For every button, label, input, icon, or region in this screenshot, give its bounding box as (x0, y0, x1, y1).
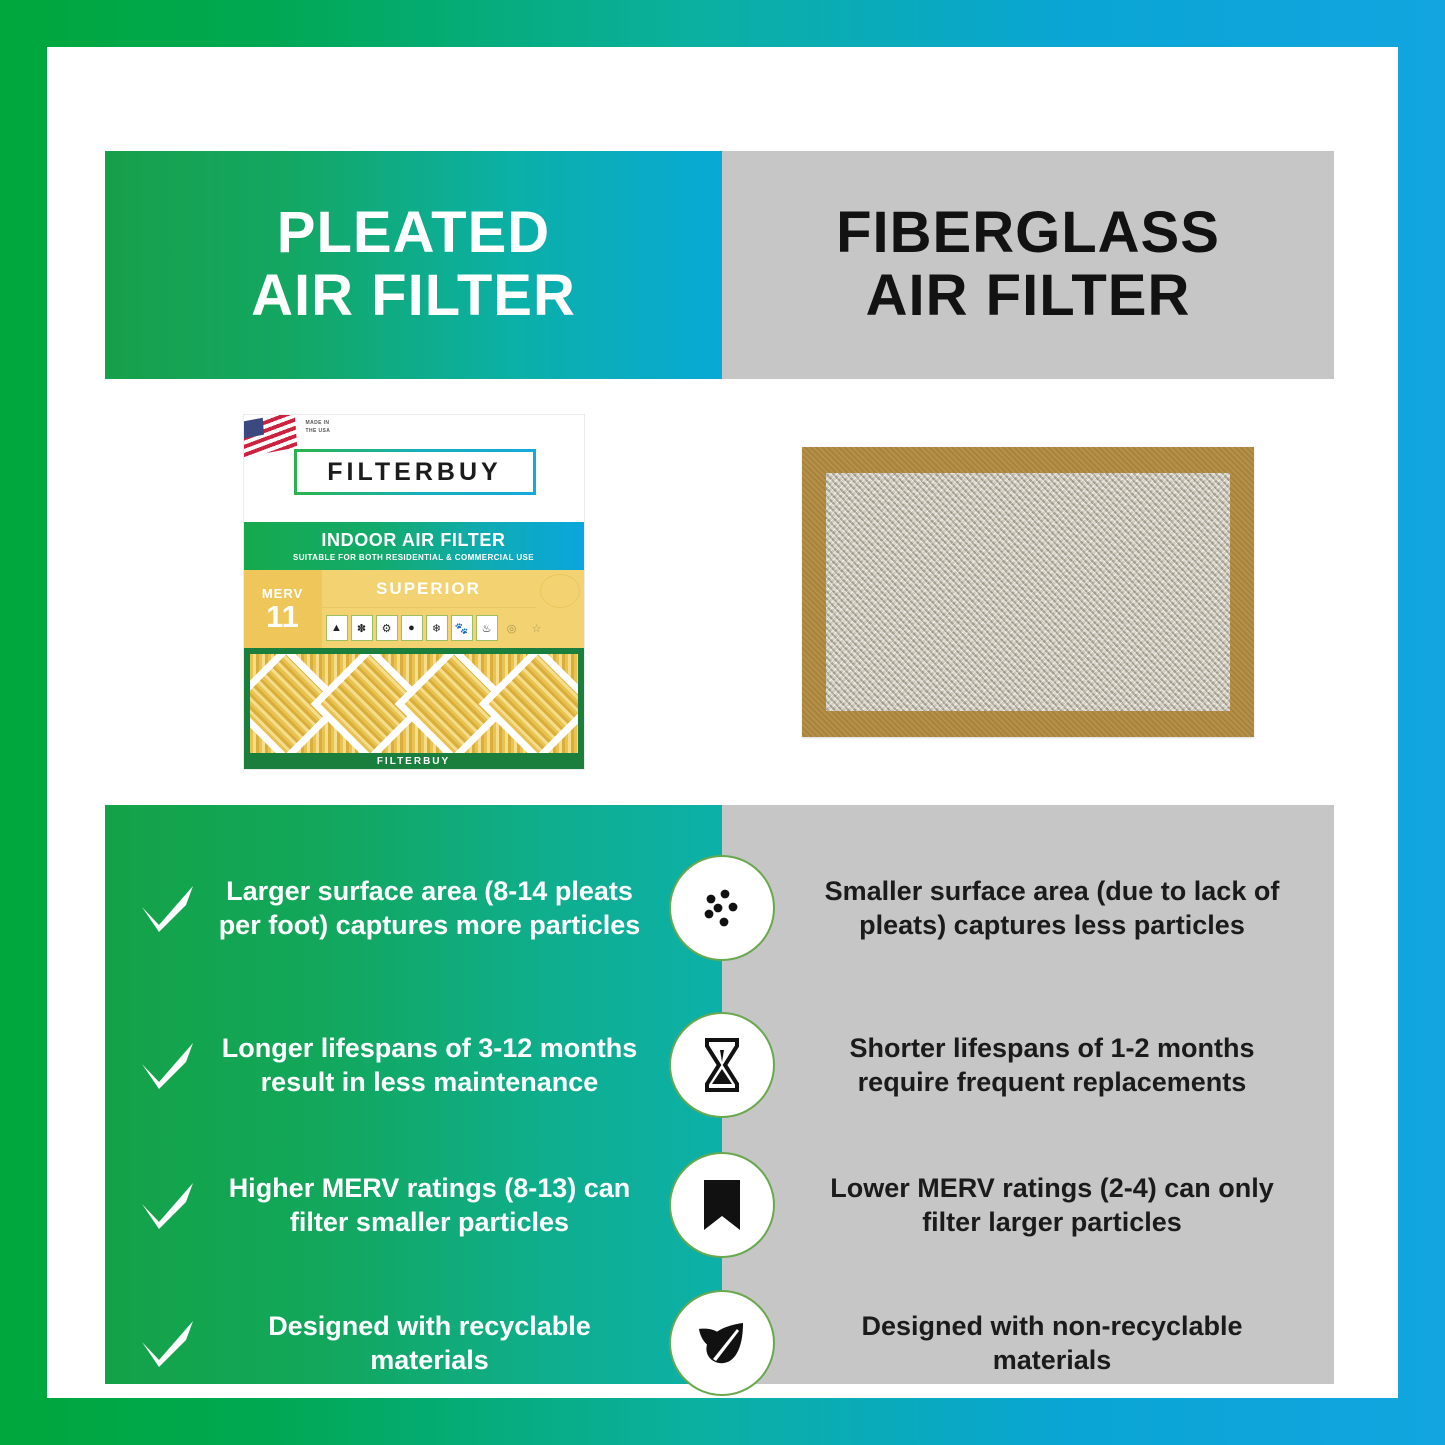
row-right-cell: Lower MERV ratings (2-4) can only filter… (722, 1171, 1334, 1240)
filterbuy-logo-text: FILTERBUY (327, 458, 501, 487)
row-left-cell: Higher MERV ratings (8-13) can filter sm… (105, 1171, 722, 1240)
checkmark-icon (135, 1180, 201, 1230)
filterbuy-logo: FILTERBUY (294, 449, 536, 495)
row-left-text: Larger surface area (8-14 pleats per foo… (207, 874, 652, 943)
header-pleated-line1: PLEATED (251, 202, 576, 265)
row-left-cell: Larger surface area (8-14 pleats per foo… (105, 874, 722, 943)
smoke-icon: ♨ (476, 615, 498, 641)
indoor-air-filter-band: INDOOR AIR FILTER SUITABLE FOR BOTH RESI… (244, 522, 584, 570)
mold-icon: ⚙ (376, 615, 398, 641)
checkmark-icon (135, 1318, 201, 1368)
header-fiberglass-line2: AIR FILTER (836, 265, 1220, 328)
filterbuy-footer-brand: FILTERBUY (244, 756, 584, 767)
header-fiberglass: FIBERGLASS AIR FILTER (722, 151, 1334, 379)
leaf-icon (674, 1295, 770, 1391)
row-left-text: Higher MERV ratings (8-13) can filter sm… (207, 1171, 652, 1240)
header-fiberglass-title: FIBERGLASS AIR FILTER (836, 202, 1220, 327)
pleated-media (250, 654, 578, 753)
row-right-text: Shorter lifespans of 1-2 months require … (806, 1031, 1298, 1100)
comparison-row: Higher MERV ratings (8-13) can filter sm… (105, 1150, 1334, 1260)
band-line1: INDOOR AIR FILTER (321, 530, 505, 551)
ul-certification-icon (540, 574, 580, 608)
outer-white-mat: PLEATED AIR FILTER FIBERGLASS AIR FILTER… (47, 47, 1398, 1398)
support-diamond (478, 654, 577, 753)
made-in-usa-text: MADE IN THE USA (306, 420, 331, 435)
merv-badge: MERV 11 (244, 570, 322, 648)
virus-icon: ◎ (501, 615, 523, 641)
checkmark-icon (135, 883, 201, 933)
header-pleated-title: PLEATED AIR FILTER (251, 202, 576, 327)
row-left-text: Designed with recyclable materials (207, 1309, 652, 1378)
tier-label: SUPERIOR (322, 570, 536, 608)
row-right-cell: Shorter lifespans of 1-2 months require … (722, 1031, 1334, 1100)
row-right-cell: Designed with non-recyclable materials (722, 1309, 1334, 1378)
allergen-icon: ❄ (426, 615, 448, 641)
row-left-text: Longer lifespans of 3-12 months result i… (207, 1031, 652, 1100)
merv-band: MERV 11 SUPERIOR ▲ ✽ ⚙ ● ❄ 🐾 ♨ (244, 570, 584, 648)
row-right-text: Lower MERV ratings (2-4) can only filter… (806, 1171, 1298, 1240)
header-pleated-line2: AIR FILTER (251, 265, 576, 328)
row-right-cell: Smaller surface area (due to lack of ple… (722, 874, 1334, 943)
header-row: PLEATED AIR FILTER FIBERGLASS AIR FILTER (105, 151, 1334, 379)
pleated-media-section: FILTERBUY (244, 648, 584, 769)
row-left-cell: Designed with recyclable materials (105, 1309, 722, 1378)
row-right-text: Smaller surface area (due to lack of ple… (806, 874, 1298, 943)
hourglass-icon (674, 1017, 770, 1113)
bookmark-icon (674, 1157, 770, 1253)
feature-icon-strip: ▲ ✽ ⚙ ● ❄ 🐾 ♨ ◎ ☆ (326, 610, 580, 646)
bacteria-icon: ● (401, 615, 423, 641)
pet-dander-icon: 🐾 (451, 615, 473, 641)
fiberglass-mesh (826, 473, 1230, 711)
comparison-row: Larger surface area (8-14 pleats per foo… (105, 843, 1334, 973)
pleated-filter-product-image: MADE IN THE USA FILTERBUY INDOOR AIR FIL… (244, 415, 584, 769)
comparison-row: Designed with recyclable materials Desig… (105, 1288, 1334, 1398)
product-cell-pleated: MADE IN THE USA FILTERBUY INDOOR AIR FIL… (105, 379, 722, 805)
dust-icon: ▲ (326, 615, 348, 641)
fiberglass-filter-product-image (802, 447, 1254, 737)
comparison-rows: Larger surface area (8-14 pleats per foo… (105, 805, 1334, 1384)
header-pleated: PLEATED AIR FILTER (105, 151, 722, 379)
made-in-line2: THE USA (306, 428, 331, 436)
row-right-text: Designed with non-recyclable materials (806, 1309, 1298, 1378)
comparison-panel: PLEATED AIR FILTER FIBERGLASS AIR FILTER… (105, 105, 1334, 1384)
band-line2: SUITABLE FOR BOTH RESIDENTIAL & COMMERCI… (293, 553, 534, 562)
checkmark-icon (135, 1040, 201, 1090)
comparison-row: Longer lifespans of 3-12 months result i… (105, 1010, 1334, 1120)
row-left-cell: Longer lifespans of 3-12 months result i… (105, 1031, 722, 1100)
merv-value: 11 (266, 601, 299, 632)
particles-icon (674, 860, 770, 956)
product-cell-fiberglass (722, 379, 1334, 805)
odor-icon: ☆ (526, 615, 548, 641)
header-fiberglass-line1: FIBERGLASS (836, 202, 1220, 265)
made-in-line1: MADE IN (306, 420, 331, 428)
pollen-icon: ✽ (351, 615, 373, 641)
product-images-row: MADE IN THE USA FILTERBUY INDOOR AIR FIL… (105, 379, 1334, 805)
